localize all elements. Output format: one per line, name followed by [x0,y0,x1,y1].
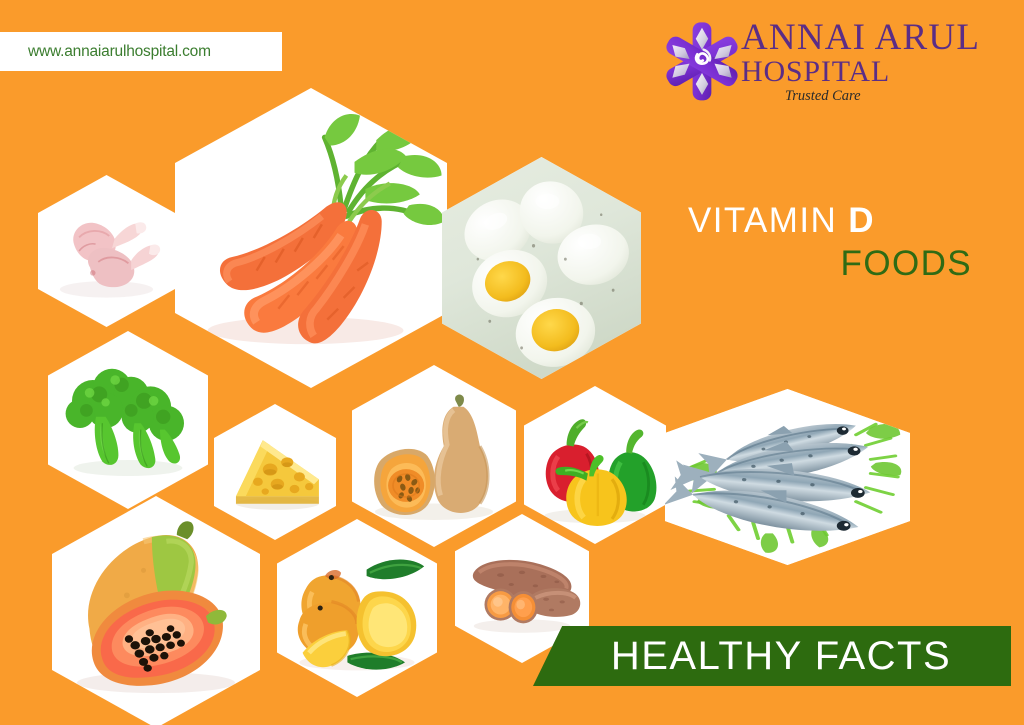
food-hex-tile-peppers [524,386,666,544]
papaya-icon [52,496,260,725]
headline-vitamin-word: VITAMIN [688,201,837,240]
bell-pepper-icon [524,386,666,544]
food-hex-tile-carrots [175,88,447,388]
hospital-logo: ANNAI ARUL HOSPITAL Trusted Care [663,18,1008,108]
logo-name-line: ANNAI ARUL [741,18,1006,58]
food-hex-tile-papaya [52,496,260,725]
carrot-icon [175,88,447,388]
poster-canvas: www.annaiarulhospital.com [0,0,1024,725]
food-hex-tile-chicken [38,175,175,327]
healthy-facts-banner: HEALTHY FACTS [533,626,1011,686]
food-hex-tile-broccoli [48,331,208,509]
chicken-icon [38,175,175,327]
mango-icon [277,519,437,697]
page-title: VITAMIN D FOODS [688,200,1008,286]
food-hex-tile-sardines [665,389,910,565]
website-url-ribbon: www.annaiarulhospital.com [0,32,282,71]
healthy-facts-banner-text: HEALTHY FACTS [593,634,951,679]
headline-line-1: VITAMIN D [688,200,1008,242]
logo-hospital-line: HOSPITAL [741,56,1006,87]
logo-wordmark: ANNAI ARUL HOSPITAL Trusted Care [741,18,1006,104]
website-url-text: www.annaiarulhospital.com [28,43,211,61]
egg-icon [442,157,641,379]
star-of-life-caduceus-icon [663,20,741,102]
food-hex-tile-squash [352,365,516,547]
cheese-icon [214,404,336,540]
food-hex-tile-eggs [442,157,641,379]
food-hex-tile-mango [277,519,437,697]
squash-icon [352,365,516,547]
headline-foods-word: FOODS [688,242,1008,286]
food-hex-tile-cheese [214,404,336,540]
broccoli-icon [48,331,208,509]
headline-d-word: D [848,201,875,240]
sardine-fish-icon [665,389,910,565]
logo-tagline: Trusted Care [785,88,1006,105]
